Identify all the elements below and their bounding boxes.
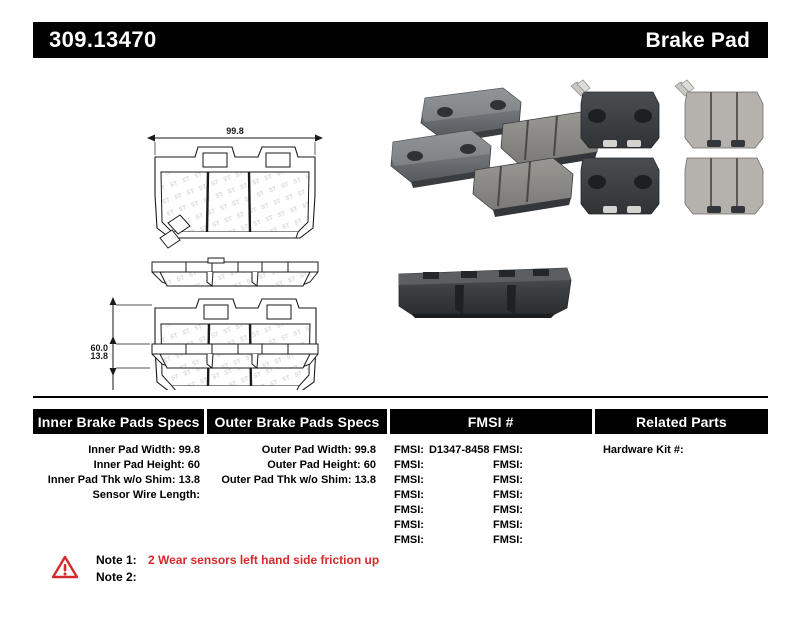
fmsi-entry: FMSI:: [493, 443, 592, 458]
notes-text-block: Note 1: 2 Wear sensors left hand side fr…: [96, 553, 379, 587]
fmsi-subcolumn-left: FMSI:D1347-8458 FMSI: FMSI: FMSI: FMSI: …: [394, 443, 493, 548]
notes-section: Note 1: 2 Wear sensors left hand side fr…: [52, 553, 379, 587]
top-pad-edge-view: [152, 258, 318, 286]
fmsi-label: FMSI:: [394, 504, 424, 516]
page-title: Brake Pad: [645, 30, 750, 51]
fmsi-entry: FMSI:: [493, 518, 592, 533]
photo-grid-pad-plate-top-left: [571, 80, 659, 148]
column-header-related-parts: Related Parts: [595, 409, 768, 434]
fmsi-label: FMSI:: [493, 504, 523, 516]
fmsi-entry: FMSI:D1347-8458: [394, 443, 493, 458]
spec-inner-width: Inner Pad Width: 99.8: [33, 443, 200, 458]
top-pad-plan-view: [155, 147, 315, 248]
spec-sensor-wire-length: Sensor Wire Length:: [33, 488, 200, 503]
fmsi-label: FMSI:: [394, 489, 424, 501]
note-1-value: 2 Wear sensors left hand side friction u…: [148, 553, 379, 567]
page-header-bar: 309.13470 Brake Pad: [33, 22, 768, 58]
table-header-row: Inner Brake Pads Specs Outer Brake Pads …: [33, 409, 768, 434]
related-parts-column: Hardware Kit #:: [595, 443, 768, 548]
spec-outer-width: Outer Pad Width: 99.8: [207, 443, 376, 458]
inner-specs-column: Inner Pad Width: 99.8 Inner Pad Height: …: [33, 443, 204, 548]
column-header-fmsi: FMSI #: [390, 409, 592, 434]
note-1-row: Note 1: 2 Wear sensors left hand side fr…: [96, 553, 379, 570]
table-top-rule: [33, 396, 768, 398]
photo-topdown-pad-grid: [571, 80, 763, 214]
product-photos-panel: [385, 66, 800, 366]
fmsi-entry: FMSI:: [493, 503, 592, 518]
fmsi-entry: FMSI:: [394, 458, 493, 473]
fmsi-entry: FMSI:: [394, 518, 493, 533]
fmsi-label: FMSI:: [493, 444, 523, 456]
note-2-label: Note 2:: [96, 570, 148, 584]
column-header-inner-specs: Inner Brake Pads Specs: [33, 409, 204, 434]
fmsi-label: FMSI:: [493, 474, 523, 486]
part-number: 309.13470: [49, 29, 157, 51]
fmsi-entry: FMSI:: [394, 503, 493, 518]
photo-grid-pad-friction-top-right: [675, 80, 763, 148]
fmsi-entry: FMSI:: [493, 488, 592, 503]
fmsi-label: FMSI:: [493, 519, 523, 531]
fmsi-entry: FMSI:: [394, 488, 493, 503]
fmsi-value: D1347-8458: [429, 444, 490, 456]
column-header-outer-specs: Outer Brake Pads Specs: [207, 409, 386, 434]
bottom-pad-edge-view: [113, 344, 318, 368]
fmsi-subcolumn-right: FMSI: FMSI: FMSI: FMSI: FMSI: FMSI:: [493, 443, 592, 548]
fmsi-label: FMSI:: [493, 459, 523, 471]
photo-pad-edge-profile: [399, 268, 571, 318]
note-1-label: Note 1:: [96, 553, 148, 567]
fmsi-entry: FMSI:: [394, 533, 493, 548]
specifications-table: Inner Brake Pads Specs Outer Brake Pads …: [33, 409, 768, 548]
width-dimension-label: 99.8: [226, 126, 244, 136]
fmsi-entry: FMSI:: [493, 458, 592, 473]
fmsi-entry: FMSI:: [493, 533, 592, 548]
outer-specs-column: Outer Pad Width: 99.8 Outer Pad Height: …: [207, 443, 386, 548]
fmsi-entry: FMSI:: [394, 473, 493, 488]
fmsi-entry: FMSI:: [493, 473, 592, 488]
fmsi-label: FMSI:: [394, 444, 424, 456]
fmsi-label: FMSI:: [493, 534, 523, 546]
thickness-dimension-label: 13.8: [90, 351, 108, 361]
spec-outer-thickness: Outer Pad Thk w/o Shim: 13.8: [207, 473, 376, 488]
photo-grid-pad-friction-bottom-right: [685, 158, 763, 214]
note-2-row: Note 2:: [96, 570, 379, 587]
fmsi-label: FMSI:: [394, 519, 424, 531]
spec-outer-height: Outer Pad Height: 60: [207, 458, 376, 473]
spec-inner-height: Inner Pad Height: 60: [33, 458, 200, 473]
table-body: Inner Pad Width: 99.8 Inner Pad Height: …: [33, 434, 768, 548]
fmsi-label: FMSI:: [394, 534, 424, 546]
brake-pad-photographs: [385, 66, 800, 366]
fmsi-label: FMSI:: [493, 489, 523, 501]
fmsi-label: FMSI:: [394, 474, 424, 486]
warning-icon: [52, 555, 78, 579]
photo-angled-pad-set: [391, 88, 599, 217]
hardware-kit-number: Hardware Kit #:: [603, 443, 768, 458]
spec-inner-thickness: Inner Pad Thk w/o Shim: 13.8: [33, 473, 200, 488]
fmsi-column: FMSI:D1347-8458 FMSI: FMSI: FMSI: FMSI: …: [389, 443, 592, 548]
photo-grid-pad-plate-bottom-left: [581, 158, 659, 214]
fmsi-label: FMSI:: [394, 459, 424, 471]
